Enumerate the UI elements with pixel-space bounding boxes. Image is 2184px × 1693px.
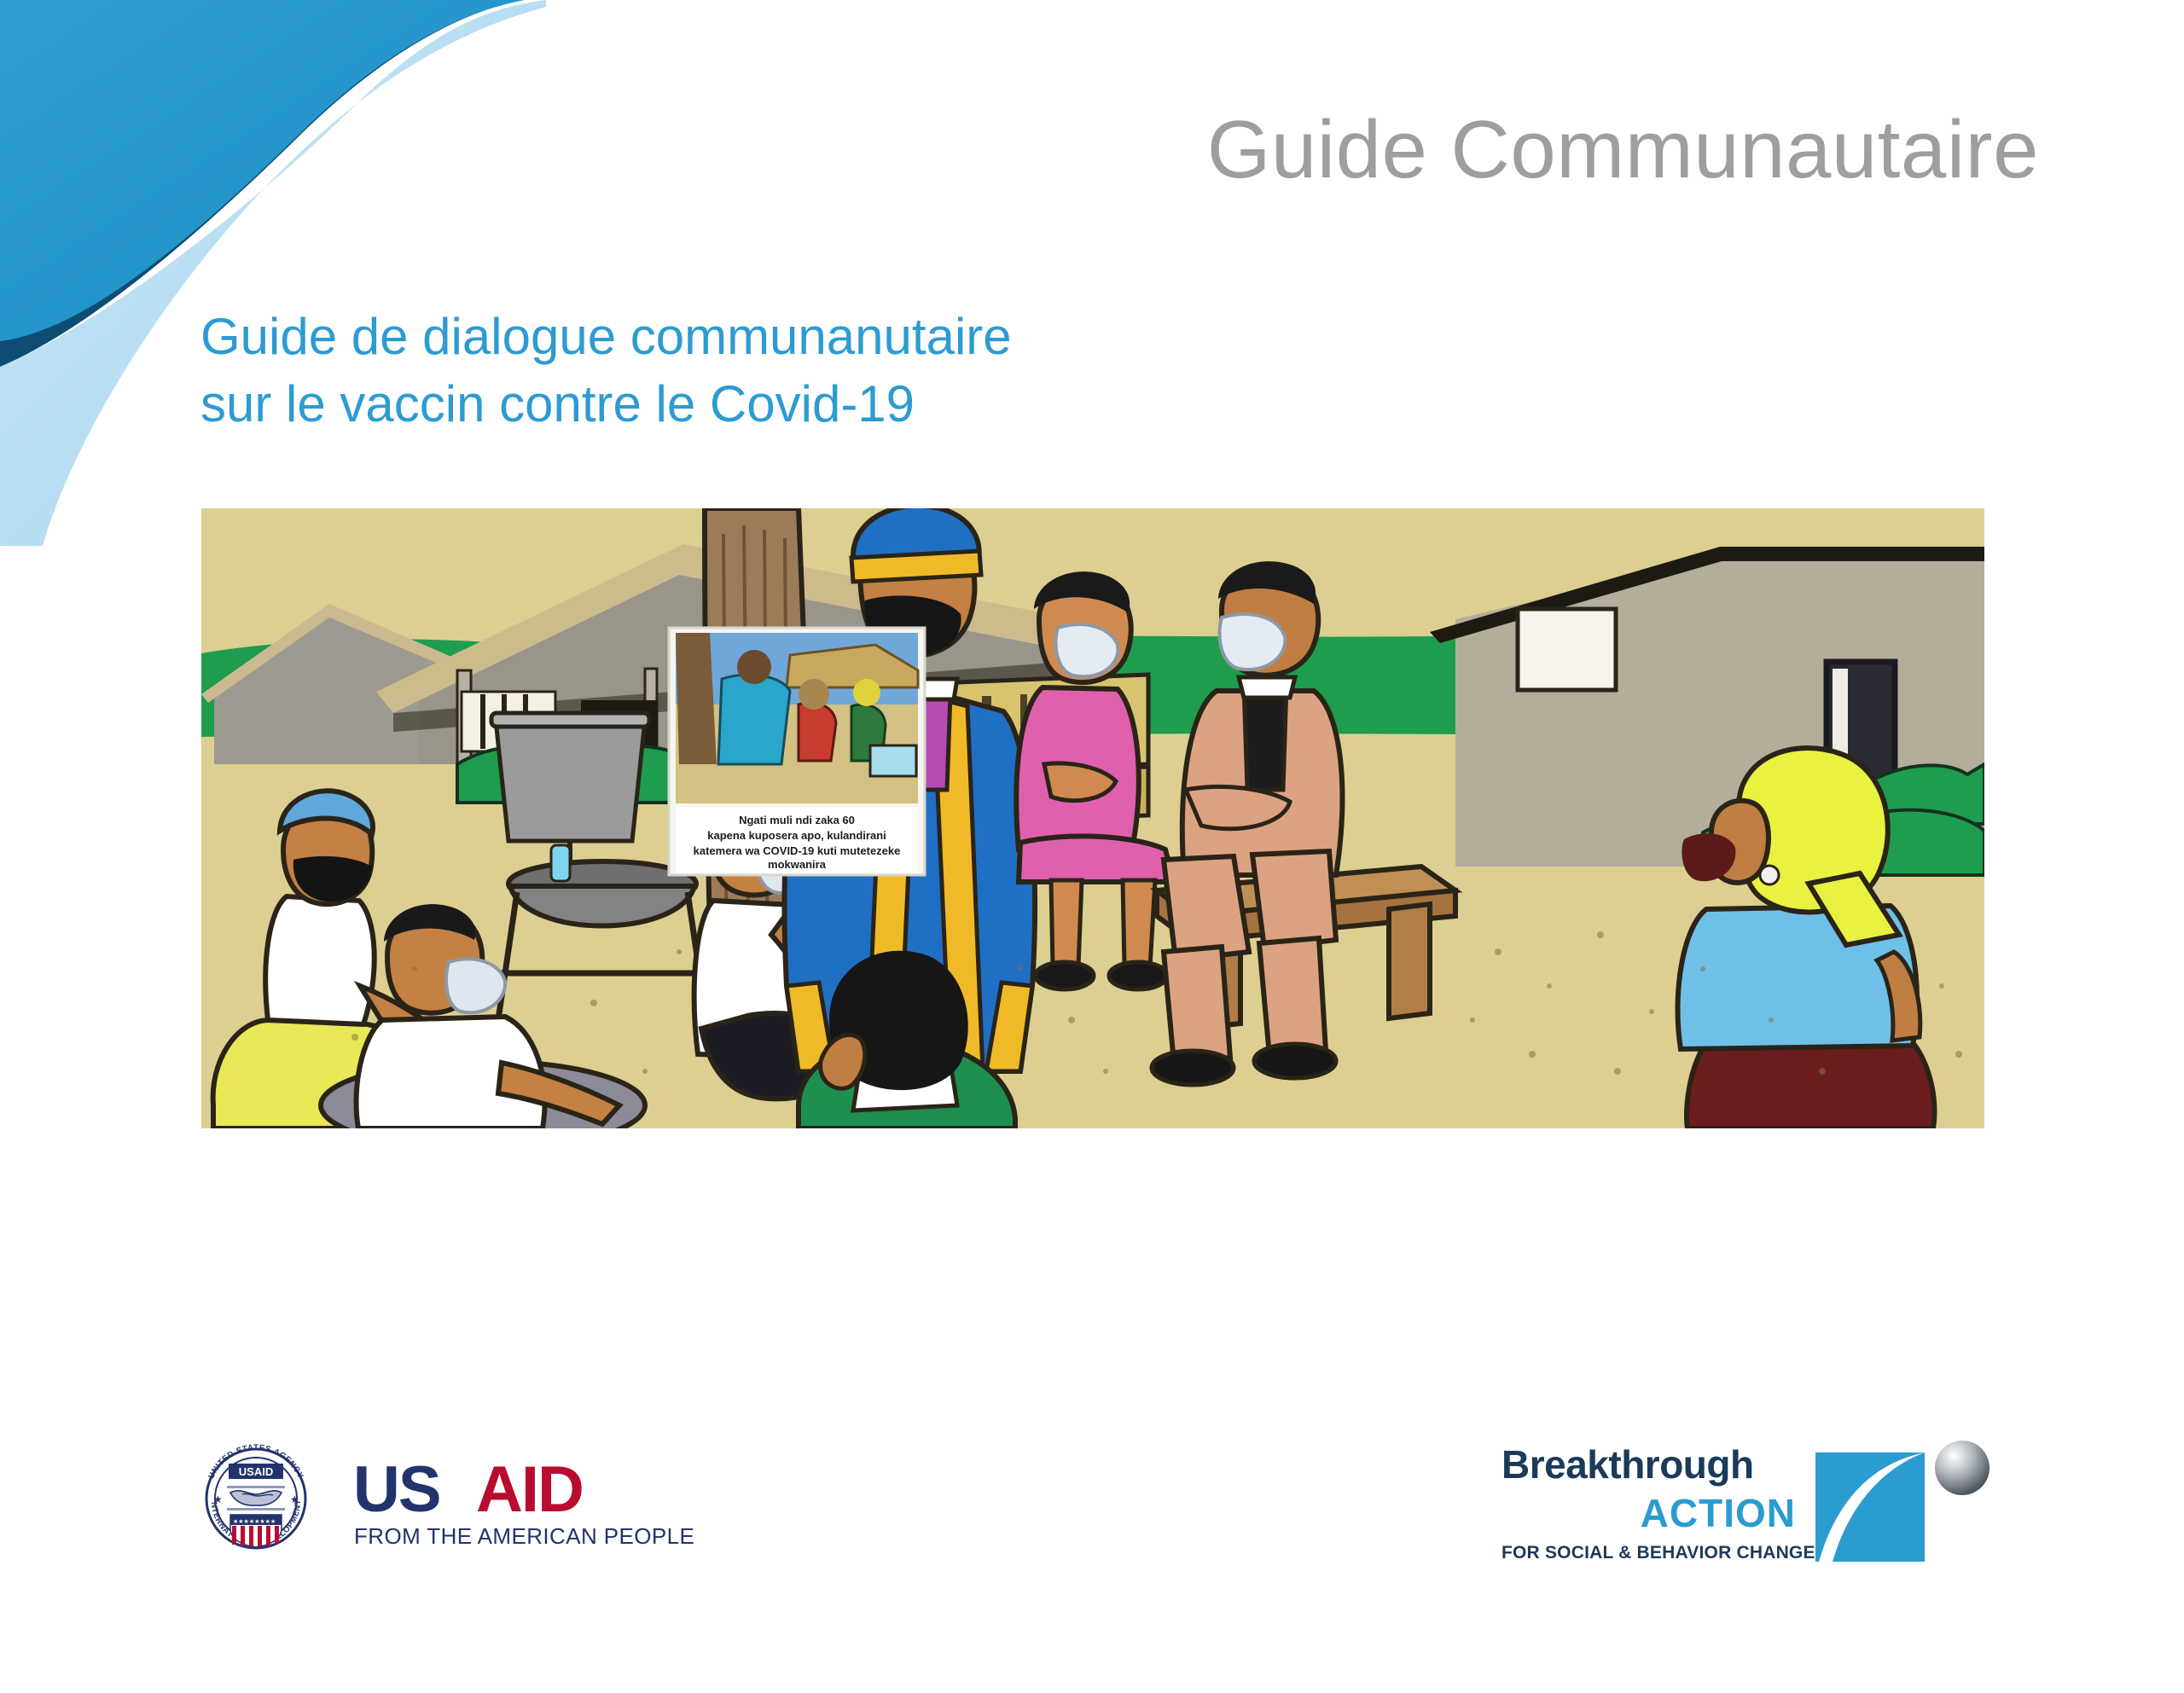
flipchart-caption-line-4: mokwanira	[768, 858, 827, 871]
woman-pink-dress-skirt	[1019, 836, 1174, 882]
svg-text:★★★★★★★★: ★★★★★★★★	[233, 1518, 276, 1525]
seal-star-left: ★	[213, 1493, 223, 1505]
woman-yellow-earring	[1760, 866, 1779, 884]
tan-suit-shin-right	[1259, 938, 1326, 1056]
breakthrough-action-logo: Breakthrough ACTION FOR SOCIAL & BEHAVIO…	[1501, 1437, 2013, 1569]
tan-suit-black-shirt	[1244, 686, 1287, 790]
house-right-window-left	[1518, 609, 1616, 690]
cover-illustration: Ngati muli ndi zaka 60 kapena kuposera a…	[201, 508, 1984, 1128]
usaid-seal: UNITED STATES AGENCY INTERNATIONAL DEVEL…	[195, 1440, 305, 1548]
flipchart-caption-line-2: kapena kuposera apo, kulandirani	[707, 829, 886, 842]
usaid-logo: UNITED STATES AGENCY INTERNATIONAL DEVEL…	[195, 1440, 706, 1568]
seal-badge-label: USAID	[239, 1465, 273, 1478]
tan-suit-thigh-left	[1164, 856, 1249, 960]
flipchart-health-worker	[718, 675, 790, 764]
flipchart-bystander-head	[853, 679, 880, 706]
breakthrough-action-logo-svg: Breakthrough ACTION FOR SOCIAL & BEHAVIO…	[1501, 1437, 2013, 1569]
woman-pink-shoe-left	[1036, 962, 1094, 989]
woman-pink-white-mask	[1055, 624, 1118, 676]
tan-suit-shoe-right	[1254, 1044, 1336, 1078]
man-tshirt-white-mask	[446, 959, 505, 1012]
water-tank-lid	[491, 713, 649, 727]
flipchart-caption-line-1: Ngati muli ndi zaka 60	[739, 814, 855, 826]
subtitle: Guide de dialogue communanutaire sur le …	[200, 303, 1012, 438]
corner-swoosh-decoration	[0, 0, 546, 546]
usaid-logo-svg: UNITED STATES AGENCY INTERNATIONAL DEVEL…	[195, 1440, 706, 1568]
subtitle-line-2: sur le vaccin contre le Covid-19	[200, 370, 1012, 438]
facilitator-cap-band	[851, 551, 981, 582]
usaid-tagline: FROM THE AMERICAN PEOPLE	[354, 1523, 694, 1549]
breakthrough-wordmark: Breakthrough	[1501, 1442, 1754, 1487]
page-title: Guide Communautaire	[0, 107, 2039, 194]
sphere-icon	[1935, 1441, 1989, 1495]
tan-suit-shoe-left	[1152, 1051, 1234, 1085]
woman-white-tank	[265, 896, 374, 1024]
woman-pink-shoe-right	[1109, 962, 1167, 989]
shield-stars: ★★★★★★★★	[233, 1518, 276, 1525]
tan-suit-white-mask	[1219, 614, 1285, 670]
subtitle-line-1: Guide de dialogue communanutaire	[200, 303, 1012, 370]
breakthrough-square-mark	[1815, 1452, 1925, 1562]
flipchart-vaccine-cooler	[870, 745, 916, 776]
tan-suit-thigh-right	[1252, 851, 1336, 948]
woman-pink-leg-left	[1051, 880, 1082, 967]
tan-suit-shin-left	[1164, 947, 1230, 1063]
vaccination-flipchart: Ngati muli ndi zaka 60 kapena kuposera a…	[669, 628, 925, 875]
flipchart-patient-body	[799, 703, 836, 761]
flipchart-tree	[676, 633, 717, 764]
usaid-wordmark-aid: AID	[476, 1453, 583, 1526]
flipchart-caption-line-3: katemera wa COVID-19 kuti mutetezeke	[694, 844, 901, 857]
usaid-wordmark-us: US	[353, 1453, 440, 1526]
seal-star-right: ★	[290, 1493, 299, 1505]
water-tank	[496, 720, 645, 841]
swoosh-light-band	[0, 0, 546, 546]
breakthrough-tagline: FOR SOCIAL & BEHAVIOR CHANGE	[1501, 1543, 1815, 1563]
corner-swoosh-svg	[0, 0, 546, 546]
woman-pink-leg-right	[1123, 880, 1155, 967]
tan-suit-collar	[1239, 677, 1295, 698]
cover-illustration-svg: Ngati muli ndi zaka 60 kapena kuposera a…	[201, 508, 1984, 1128]
action-wordmark: ACTION	[1641, 1491, 1796, 1535]
flipchart-patient-head	[799, 679, 829, 710]
bench-leg-right	[1389, 904, 1430, 1018]
flipchart-health-worker-head	[737, 650, 771, 684]
soap-bottle	[551, 845, 570, 881]
